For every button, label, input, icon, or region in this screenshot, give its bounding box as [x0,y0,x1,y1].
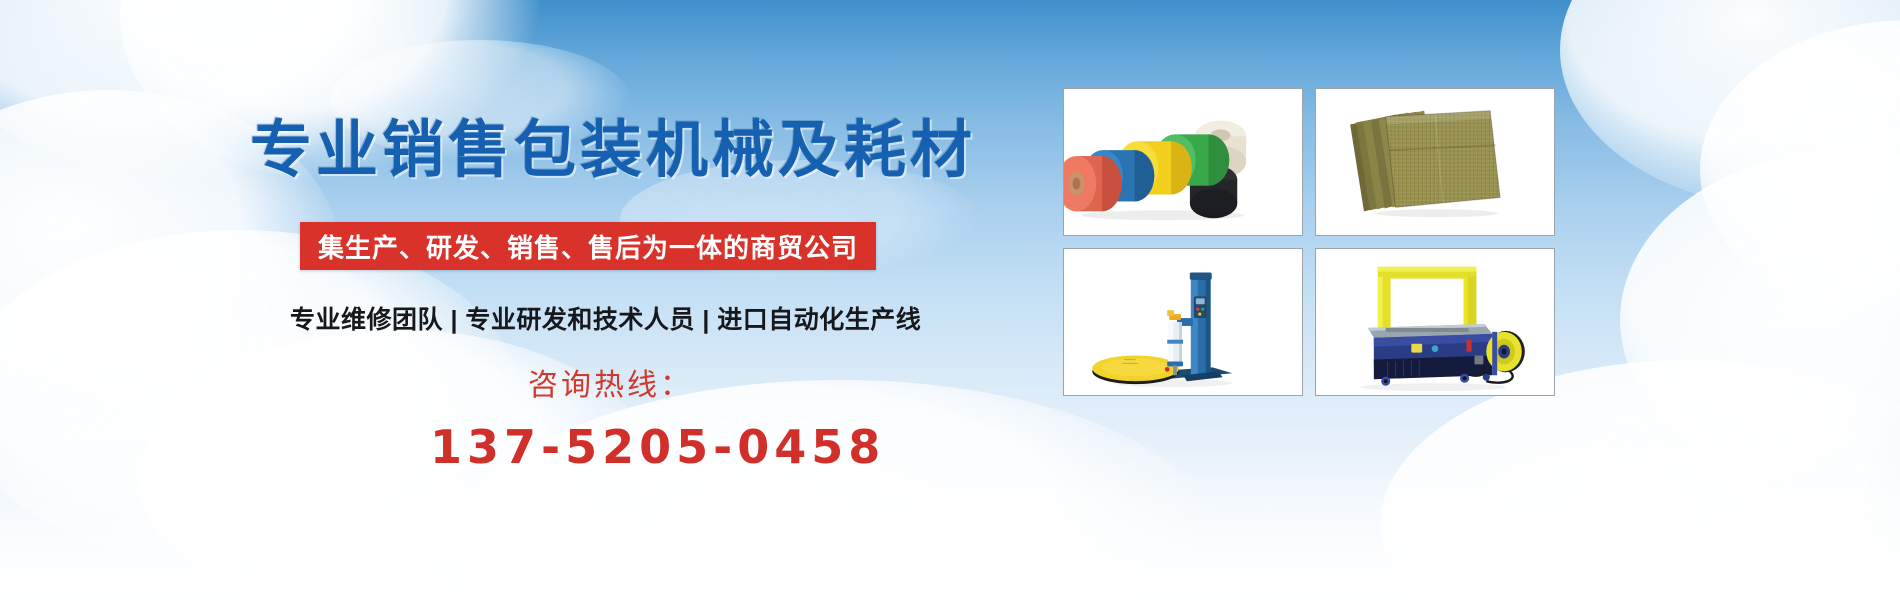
tagline-ribbon-label: 集生产、研发、销售、售后为一体的商贸公司 [318,228,858,265]
page-title: 专业销售包装机械及耗材 [250,120,976,182]
tagline-ribbon: 集生产、研发、销售、售后为一体的商贸公司 [300,222,876,270]
hotline-phone-number[interactable]: 137-5205-0458 [430,420,885,474]
woven-sacks-icon [1316,89,1554,235]
product-cell-woven-sacks[interactable] [1315,88,1555,236]
product-cell-automatic-strapping-machine[interactable] [1315,248,1555,396]
strapping-rolls-icon [1064,89,1302,235]
feature-list: 专业维修团队 | 专业研发和技术人员 | 进口自动化生产线 [290,300,921,336]
product-image-grid [1063,88,1663,400]
automatic-strapping-machine-icon [1316,249,1554,395]
pallet-stretch-wrapper-icon [1064,249,1302,395]
product-cell-strapping-rolls[interactable] [1063,88,1303,236]
product-cell-pallet-stretch-wrapper[interactable] [1063,248,1303,396]
promo-banner: 专业销售包装机械及耗材 集生产、研发、销售、售后为一体的商贸公司 专业维修团队 … [0,0,1900,600]
banner-text-block: 专业销售包装机械及耗材 集生产、研发、销售、售后为一体的商贸公司 专业维修团队 … [0,0,1020,600]
hotline-label: 咨询热线： [528,360,693,404]
